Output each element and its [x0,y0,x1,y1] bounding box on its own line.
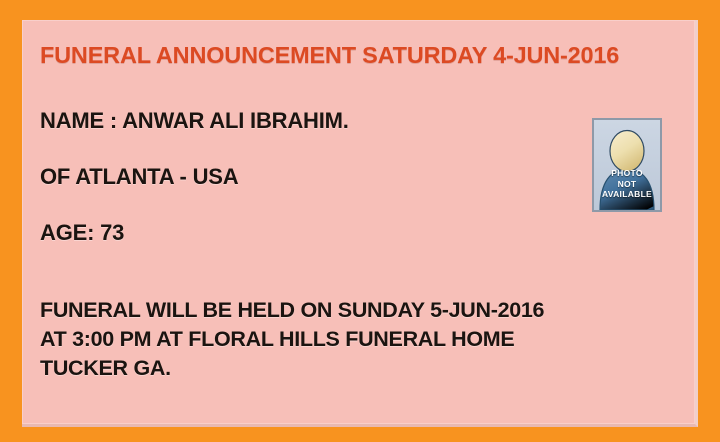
service-details-paragraph: FUNERAL WILL BE HELD ON SUNDAY 5-JUN-201… [40,296,544,383]
service-details-line-1: FUNERAL WILL BE HELD ON SUNDAY 5-JUN-201… [40,296,544,325]
announcement-panel: FUNERAL ANNOUNCEMENT SATURDAY 4-JUN-2016… [22,20,698,427]
deceased-age-line: AGE: 73 [40,220,124,246]
service-details-line-2: AT 3:00 PM AT FLORAL HILLS FUNERAL HOME [40,325,544,354]
announcement-headline: FUNERAL ANNOUNCEMENT SATURDAY 4-JUN-2016 [40,42,619,69]
deceased-location-line: OF ATLANTA - USA [40,164,238,190]
funeral-announcement-poster: FUNERAL ANNOUNCEMENT SATURDAY 4-JUN-2016… [0,0,720,442]
photo-not-available-placeholder: PHOTO NOT AVAILABLE [592,118,662,212]
service-details-line-3: TUCKER GA. [40,354,544,383]
announcement-content: FUNERAL ANNOUNCEMENT SATURDAY 4-JUN-2016… [22,20,695,424]
person-silhouette-icon [594,120,660,210]
deceased-name-line: NAME : ANWAR ALI IBRAHIM. [40,108,349,134]
